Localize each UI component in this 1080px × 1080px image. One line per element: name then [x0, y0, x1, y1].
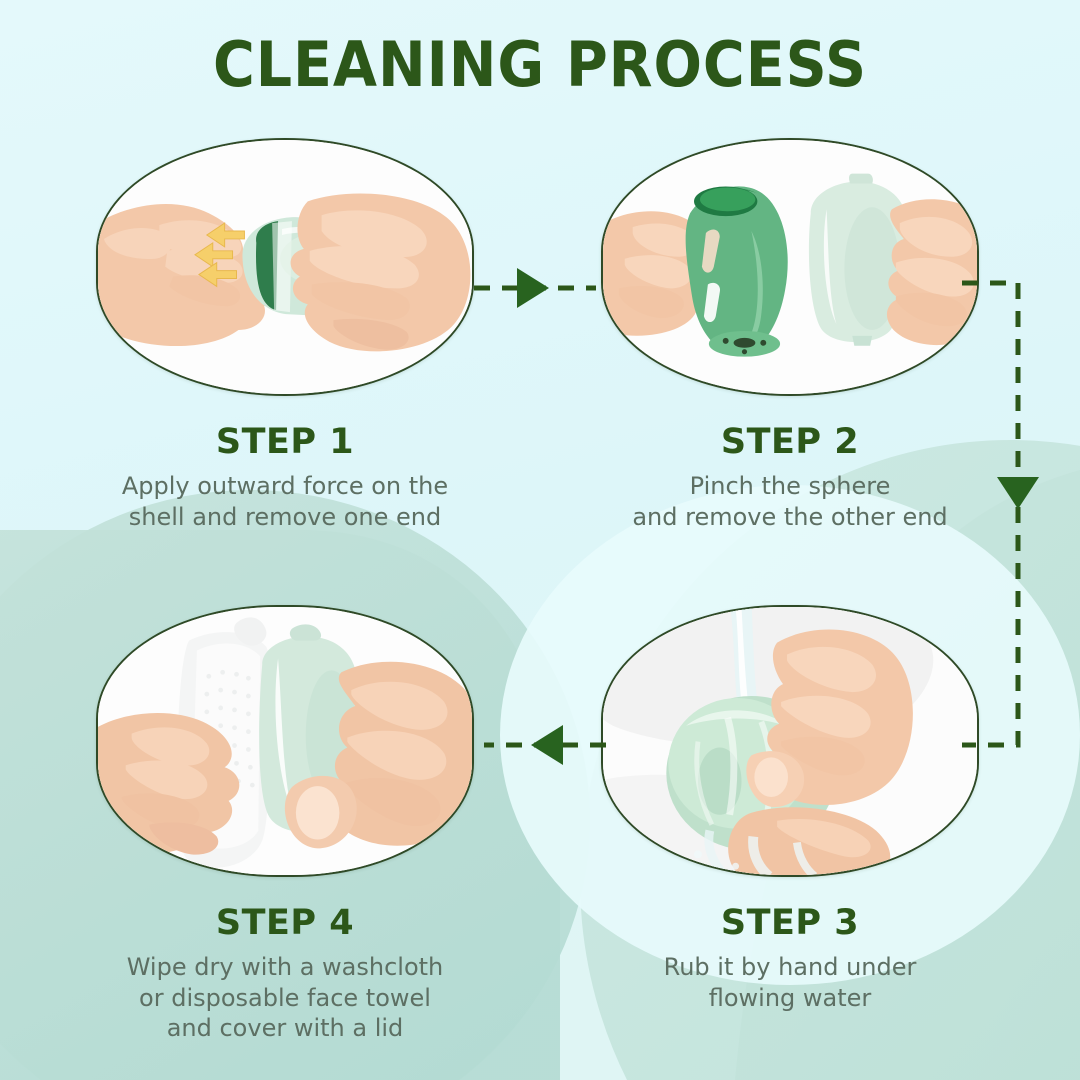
step-2-image-frame: [601, 138, 979, 396]
step-4-label: STEP 4: [55, 903, 515, 943]
step-3-label: STEP 3: [560, 903, 1020, 943]
step-1-photo: [98, 140, 472, 395]
step-card-2[interactable]: STEP 2 Pinch the sphere and remove the o…: [560, 138, 1020, 532]
step-4-caption-line-3: and cover with a lid: [55, 1013, 515, 1044]
step-3-caption-line-1: Rub it by hand under: [560, 952, 1020, 983]
right-hand: [291, 193, 471, 351]
step-4-caption-line-1: Wipe dry with a washcloth: [55, 952, 515, 983]
step-4-image-frame: [96, 605, 474, 877]
page-title: CLEANING PROCESS: [43, 28, 1037, 101]
right-hand: [887, 199, 977, 345]
step-3-image-frame: [601, 605, 979, 877]
step-1-caption: Apply outward force on the shell and rem…: [55, 471, 515, 532]
step-1-label: STEP 1: [55, 422, 515, 462]
step-2-caption: Pinch the sphere and remove the other en…: [560, 471, 1020, 532]
step-3-photo: [603, 607, 977, 876]
step-card-4[interactable]: STEP 4 Wipe dry with a washcloth or disp…: [55, 605, 515, 1044]
step-card-1[interactable]: STEP 1 Apply outward force on the shell …: [55, 138, 515, 532]
step-1-caption-line-1: Apply outward force on the: [55, 471, 515, 502]
step-1-caption-line-2: shell and remove one end: [55, 502, 515, 533]
step-3-caption-line-2: flowing water: [560, 983, 1020, 1014]
step-1-image-frame: [96, 138, 474, 396]
step-4-photo: [98, 607, 472, 876]
step-3-caption: Rub it by hand under flowing water: [560, 952, 1020, 1013]
step-card-3[interactable]: STEP 3 Rub it by hand under flowing wate…: [560, 605, 1020, 1013]
step-2-caption-line-2: and remove the other end: [560, 502, 1020, 533]
steps-grid: STEP 1 Apply outward force on the shell …: [0, 0, 1080, 1080]
step-2-caption-line-1: Pinch the sphere: [560, 471, 1020, 502]
step-4-caption-line-2: or disposable face towel: [55, 983, 515, 1014]
step-2-label: STEP 2: [560, 422, 1020, 462]
step-4-caption: Wipe dry with a washcloth or disposable …: [55, 952, 515, 1044]
step-2-photo: [603, 140, 977, 395]
